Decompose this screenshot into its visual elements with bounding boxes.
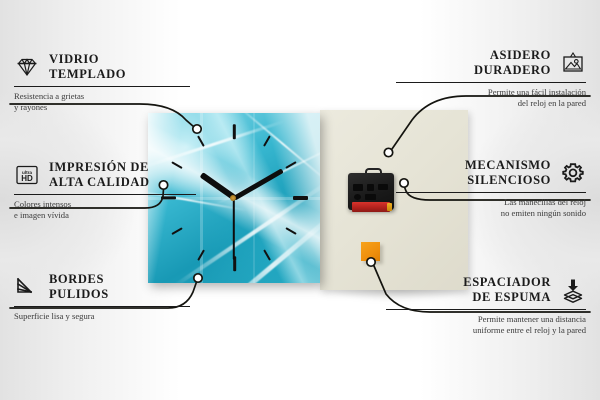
- feature-heading: ultra HD IMPRESIÓN DE ALTA CALIDAD: [14, 160, 196, 191]
- infographic-canvas: VIDRIO TEMPLADO Resistencia a grietas y …: [0, 0, 600, 400]
- clock-mechanism: [348, 168, 394, 210]
- feature-description: Resistencia a grietas: [14, 91, 190, 102]
- feature-title: MECANISMO SILENCIOSO: [465, 158, 551, 189]
- feature-description: uniforme entre el reloj y la pared: [386, 325, 586, 336]
- mechanism-detail: [367, 184, 374, 191]
- divider: [14, 194, 196, 195]
- feature-vidrio-templado: VIDRIO TEMPLADO Resistencia a grietas y …: [14, 52, 190, 113]
- feature-title: VIDRIO TEMPLADO: [49, 52, 126, 83]
- feature-description: y rayones: [14, 102, 190, 113]
- feature-title: BORDES PULIDOS: [49, 272, 109, 303]
- feature-description: Colores intensos: [14, 199, 196, 210]
- divider: [14, 306, 190, 307]
- divider: [396, 82, 586, 83]
- feature-title: ESPACIADOR DE ESPUMA: [463, 275, 551, 306]
- foam-spacer-icon: [560, 277, 586, 303]
- feature-heading: ASIDERO DURADERO: [396, 48, 586, 79]
- mechanism-detail: [365, 194, 376, 200]
- mechanism-detail: [354, 194, 361, 200]
- picture-hanger-icon: [560, 50, 586, 76]
- feature-impresion-alta-calidad: ultra HD IMPRESIÓN DE ALTA CALIDAD Color…: [14, 160, 196, 221]
- feature-heading: MECANISMO SILENCIOSO: [396, 158, 586, 189]
- divider: [386, 309, 586, 310]
- feature-espaciador-de-espuma: ESPACIADOR DE ESPUMA Permite mantener un…: [386, 275, 586, 336]
- feature-bordes-pulidos: BORDES PULIDOS Superficie lisa y segura: [14, 272, 190, 322]
- glass-reflection: [253, 113, 255, 283]
- mechanism-detail: [353, 184, 363, 191]
- feature-description: Permite mantener una distancia: [386, 314, 586, 325]
- divider: [14, 86, 190, 87]
- feature-description: e imagen vívida: [14, 210, 196, 221]
- diamond-icon: [14, 54, 40, 80]
- svg-text:HD: HD: [21, 174, 33, 183]
- feature-heading: VIDRIO TEMPLADO: [14, 52, 190, 83]
- feature-heading: BORDES PULIDOS: [14, 272, 190, 303]
- feature-mecanismo-silencioso: MECANISMO SILENCIOSO Las manecillas del …: [396, 158, 586, 219]
- clock-second-hand: [233, 198, 235, 260]
- feature-description: Superficie lisa y segura: [14, 311, 190, 322]
- feature-asidero-duradero: ASIDERO DURADERO Permite una fácil insta…: [396, 48, 586, 109]
- feature-title: ASIDERO DURADERO: [474, 48, 551, 79]
- mechanism-detail: [378, 184, 388, 190]
- polished-edges-icon: [14, 274, 40, 300]
- feature-description: Las manecillas del reloj: [396, 197, 586, 208]
- divider: [396, 192, 586, 193]
- feature-title: IMPRESIÓN DE ALTA CALIDAD: [49, 160, 150, 191]
- feature-description: del reloj en la pared: [396, 98, 586, 109]
- foam-spacer: [361, 242, 380, 261]
- clock-tick: [293, 196, 308, 199]
- clock-tick: [232, 124, 235, 139]
- feature-heading: ESPACIADOR DE ESPUMA: [386, 275, 586, 306]
- feature-description: Permite una fácil instalación: [396, 87, 586, 98]
- mechanism-body: [348, 173, 394, 210]
- battery: [352, 202, 390, 212]
- feature-description: no emiten ningún sonido: [396, 208, 586, 219]
- feather-streak: [206, 209, 320, 283]
- gear-icon: [560, 160, 586, 186]
- clock-center-cap: [230, 195, 236, 201]
- ultra-hd-icon: ultra HD: [14, 162, 40, 188]
